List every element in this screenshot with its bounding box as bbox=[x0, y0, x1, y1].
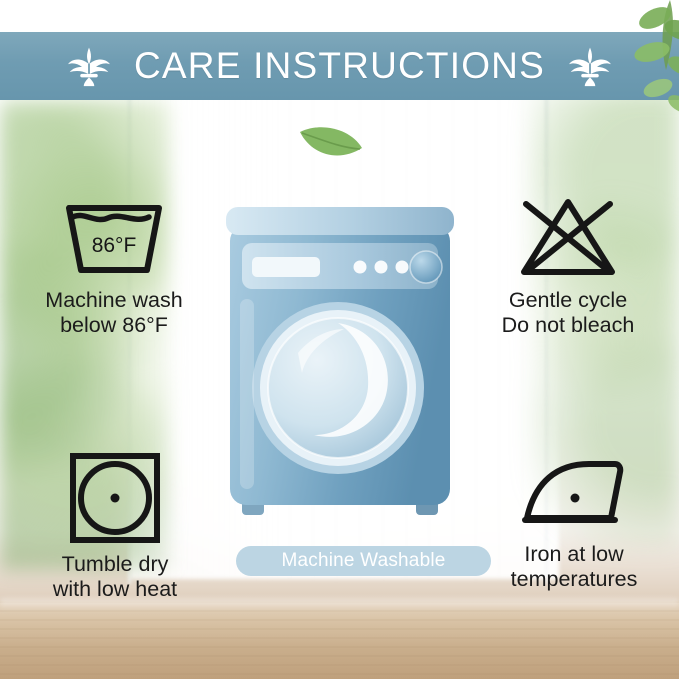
badge-label: Machine Washable bbox=[281, 550, 445, 572]
care-icon-gentle-cycle: Gentle cycle Do not bleach bbox=[468, 192, 668, 339]
iron-icon bbox=[519, 452, 629, 534]
care-icon-tumble-dry: Tumble dry with low heat bbox=[20, 448, 210, 603]
page-title: CARE INSTRUCTIONS bbox=[134, 45, 545, 87]
wash-temperature-label: 86°F bbox=[92, 234, 137, 257]
care-icon-machine-wash: 86°F Machine wash below 86°F bbox=[14, 196, 214, 339]
care-instructions-graphic: CARE INSTRUCTIONS bbox=[0, 0, 679, 679]
care-icon-caption: Tumble dry with low heat bbox=[20, 552, 210, 603]
care-icon-caption: Iron at low temperatures bbox=[476, 542, 672, 593]
wash-tub-icon: 86°F bbox=[61, 196, 167, 280]
triangle-crossed-out-icon bbox=[516, 192, 620, 280]
washing-machine-illustration bbox=[226, 203, 454, 538]
wood-grain-texture bbox=[0, 601, 679, 679]
care-icon-caption: Machine wash below 86°F bbox=[14, 288, 214, 339]
fleur-de-lis-icon bbox=[62, 45, 116, 87]
care-icon-iron: Iron at low temperatures bbox=[476, 452, 672, 593]
machine-washable-badge: Machine Washable bbox=[236, 546, 491, 576]
care-icon-caption: Gentle cycle Do not bleach bbox=[468, 288, 668, 339]
header-banner: CARE INSTRUCTIONS bbox=[0, 32, 679, 100]
tumble-dry-low-icon bbox=[65, 448, 165, 544]
fleur-de-lis-icon bbox=[563, 45, 617, 87]
